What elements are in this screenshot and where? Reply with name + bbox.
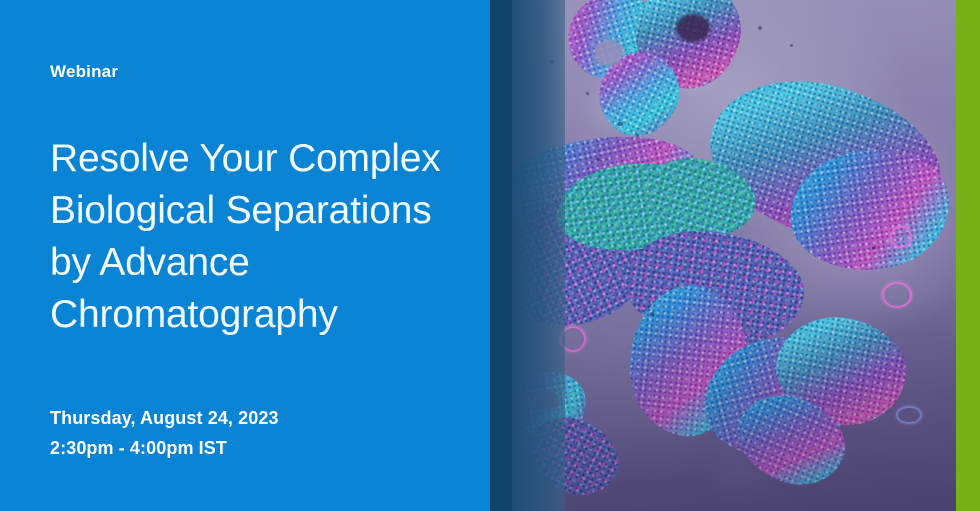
page-title: Resolve Your Complex Biological Separati… <box>50 133 470 341</box>
headline-line-2: Biological Separations <box>50 185 470 237</box>
accent-stripe <box>956 0 980 511</box>
headline-line-1: Resolve Your Complex <box>50 133 470 185</box>
content-panel: Webinar Resolve Your Complex Biological … <box>0 0 490 511</box>
headline-line-4: Chromatography <box>50 289 470 341</box>
event-date: Thursday, August 24, 2023 <box>50 403 279 433</box>
webinar-promo-banner: Webinar Resolve Your Complex Biological … <box>0 0 980 511</box>
event-datetime: Thursday, August 24, 2023 2:30pm - 4:00p… <box>50 403 279 463</box>
event-time: 2:30pm - 4:00pm IST <box>50 433 279 463</box>
panel-overlay-band <box>512 0 565 511</box>
panel-divider-band <box>490 0 512 511</box>
headline-line-3: by Advance <box>50 237 470 289</box>
eyebrow-label: Webinar <box>50 62 118 82</box>
